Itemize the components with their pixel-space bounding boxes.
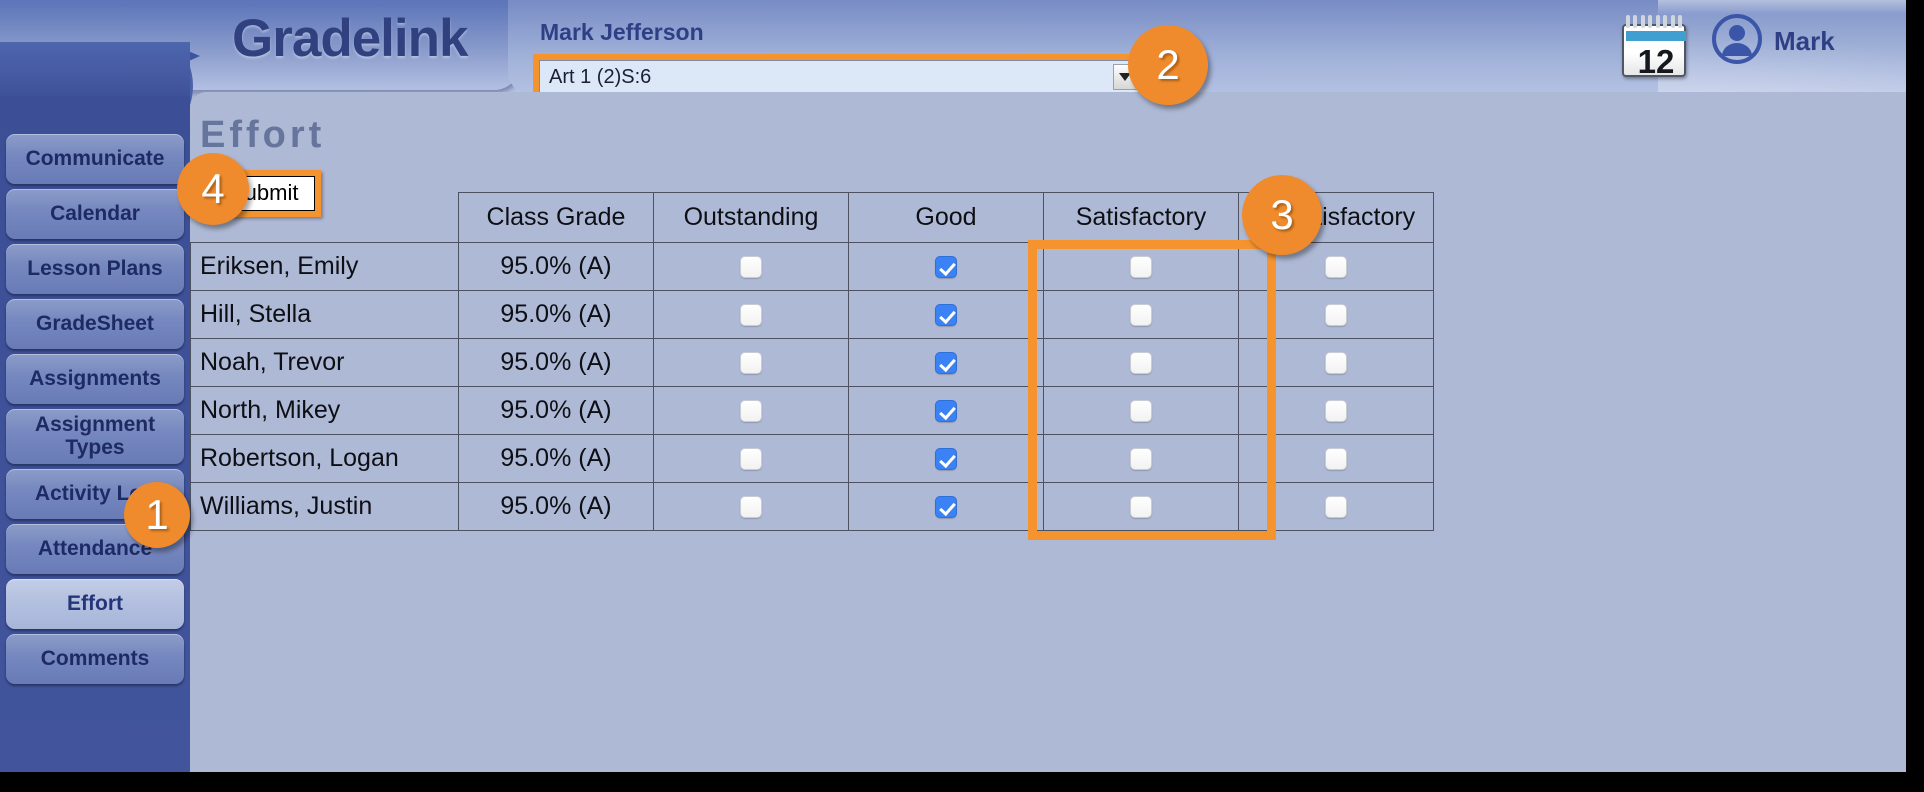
student-class-grade: 95.0% (A)	[459, 435, 654, 483]
sidebar-nav: Communicate Calendar Lesson Plans GradeS…	[0, 92, 190, 772]
calendar-body: 12	[1622, 24, 1686, 77]
checkbox-cell-outstanding[interactable]	[654, 291, 849, 339]
checkbox-cell-good[interactable]	[849, 435, 1044, 483]
checkbox-cell-good[interactable]	[849, 387, 1044, 435]
checkbox-unsatisfactory[interactable]	[1325, 448, 1347, 470]
column-header-satisfactory: Satisfactory	[1044, 193, 1239, 243]
sidebar-item-label: Assignment Types	[10, 414, 180, 459]
calendar-rings	[1626, 15, 1682, 28]
checkbox-good[interactable]	[935, 352, 957, 374]
teacher-name: Mark Jefferson	[540, 19, 704, 46]
checkbox-cell-good[interactable]	[849, 339, 1044, 387]
callout-badge-3: 3	[1242, 175, 1322, 255]
sidebar-item-label: Effort	[67, 593, 123, 616]
checkbox-unsatisfactory[interactable]	[1325, 400, 1347, 422]
checkbox-good[interactable]	[935, 496, 957, 518]
sidebar-item-label: Calendar	[50, 203, 140, 226]
checkbox-outstanding[interactable]	[740, 352, 762, 374]
column-header-class-grade: Class Grade	[459, 193, 654, 243]
sidebar-item-effort[interactable]: Effort	[6, 579, 184, 629]
checkbox-good[interactable]	[935, 448, 957, 470]
sidebar-item-label: Lesson Plans	[27, 258, 162, 281]
callout-badge-2: 2	[1128, 25, 1208, 105]
checkbox-good[interactable]	[935, 400, 957, 422]
checkbox-unsatisfactory[interactable]	[1325, 496, 1347, 518]
user-avatar-icon	[1712, 14, 1762, 69]
checkbox-outstanding[interactable]	[740, 448, 762, 470]
sidebar-item-gradesheet[interactable]: GradeSheet	[6, 299, 184, 349]
checkbox-cell-good[interactable]	[849, 243, 1044, 291]
sidebar-item-label: GradeSheet	[36, 313, 154, 336]
checkbox-good[interactable]	[935, 304, 957, 326]
student-class-grade: 95.0% (A)	[459, 387, 654, 435]
student-name: Hill, Stella	[191, 291, 459, 339]
student-name: Williams, Justin	[191, 483, 459, 531]
sidebar-item-communicate[interactable]: Communicate	[6, 134, 184, 184]
student-name: Eriksen, Emily	[191, 243, 459, 291]
checkbox-cell-good[interactable]	[849, 483, 1044, 531]
calendar-day-number: 12	[1624, 43, 1688, 81]
checkbox-cell-outstanding[interactable]	[654, 387, 849, 435]
checkbox-outstanding[interactable]	[740, 400, 762, 422]
student-class-grade: 95.0% (A)	[459, 291, 654, 339]
course-select[interactable]: Art 1 (2)S:6	[539, 60, 1141, 94]
student-class-grade: 95.0% (A)	[459, 243, 654, 291]
checkbox-outstanding[interactable]	[740, 256, 762, 278]
student-class-grade: 95.0% (A)	[459, 483, 654, 531]
checkbox-unsatisfactory[interactable]	[1325, 304, 1347, 326]
checkbox-cell-outstanding[interactable]	[654, 243, 849, 291]
checkbox-cell-good[interactable]	[849, 291, 1044, 339]
gradelink-app-window: G Gradelink Mark Jefferson Art 1 (2)S:6 …	[0, 0, 1906, 772]
checkbox-unsatisfactory[interactable]	[1325, 256, 1347, 278]
checkbox-outstanding[interactable]	[740, 496, 762, 518]
student-name: Noah, Trevor	[191, 339, 459, 387]
brand-wordmark: Gradelink	[232, 8, 467, 69]
sidebar-item-label: Attendance	[38, 538, 152, 561]
sidebar-item-comments[interactable]: Comments	[6, 634, 184, 684]
course-select-value: Art 1 (2)S:6	[549, 66, 651, 89]
user-menu[interactable]: Mark	[1712, 14, 1835, 69]
student-class-grade: 95.0% (A)	[459, 339, 654, 387]
good-column-highlight	[1028, 240, 1276, 540]
calendar-header-strip	[1626, 31, 1686, 41]
calendar-icon[interactable]: 12	[1622, 15, 1686, 77]
checkbox-good[interactable]	[935, 256, 957, 278]
column-header-good: Good	[849, 193, 1044, 243]
page-title: Effort	[200, 114, 325, 157]
sidebar-item-label: Communicate	[26, 148, 165, 171]
top-banner: G Gradelink Mark Jefferson Art 1 (2)S:6 …	[0, 0, 1906, 92]
checkbox-cell-outstanding[interactable]	[654, 483, 849, 531]
sidebar-item-lesson-plans[interactable]: Lesson Plans	[6, 244, 184, 294]
callout-badge-1: 1	[124, 482, 190, 548]
callout-badge-4: 4	[177, 153, 249, 225]
checkbox-cell-outstanding[interactable]	[654, 435, 849, 483]
sidebar-item-label: Comments	[41, 648, 150, 671]
sidebar-item-label: Assignments	[29, 368, 161, 391]
sidebar-item-assignment-types[interactable]: Assignment Types	[6, 409, 184, 464]
checkbox-cell-outstanding[interactable]	[654, 339, 849, 387]
checkbox-unsatisfactory[interactable]	[1325, 352, 1347, 374]
student-name: Robertson, Logan	[191, 435, 459, 483]
sidebar-item-assignments[interactable]: Assignments	[6, 354, 184, 404]
user-name: Mark	[1774, 26, 1835, 57]
column-header-outstanding: Outstanding	[654, 193, 849, 243]
sidebar-top-cap	[0, 42, 190, 96]
student-name: North, Mikey	[191, 387, 459, 435]
sidebar-item-calendar[interactable]: Calendar	[6, 189, 184, 239]
checkbox-outstanding[interactable]	[740, 304, 762, 326]
